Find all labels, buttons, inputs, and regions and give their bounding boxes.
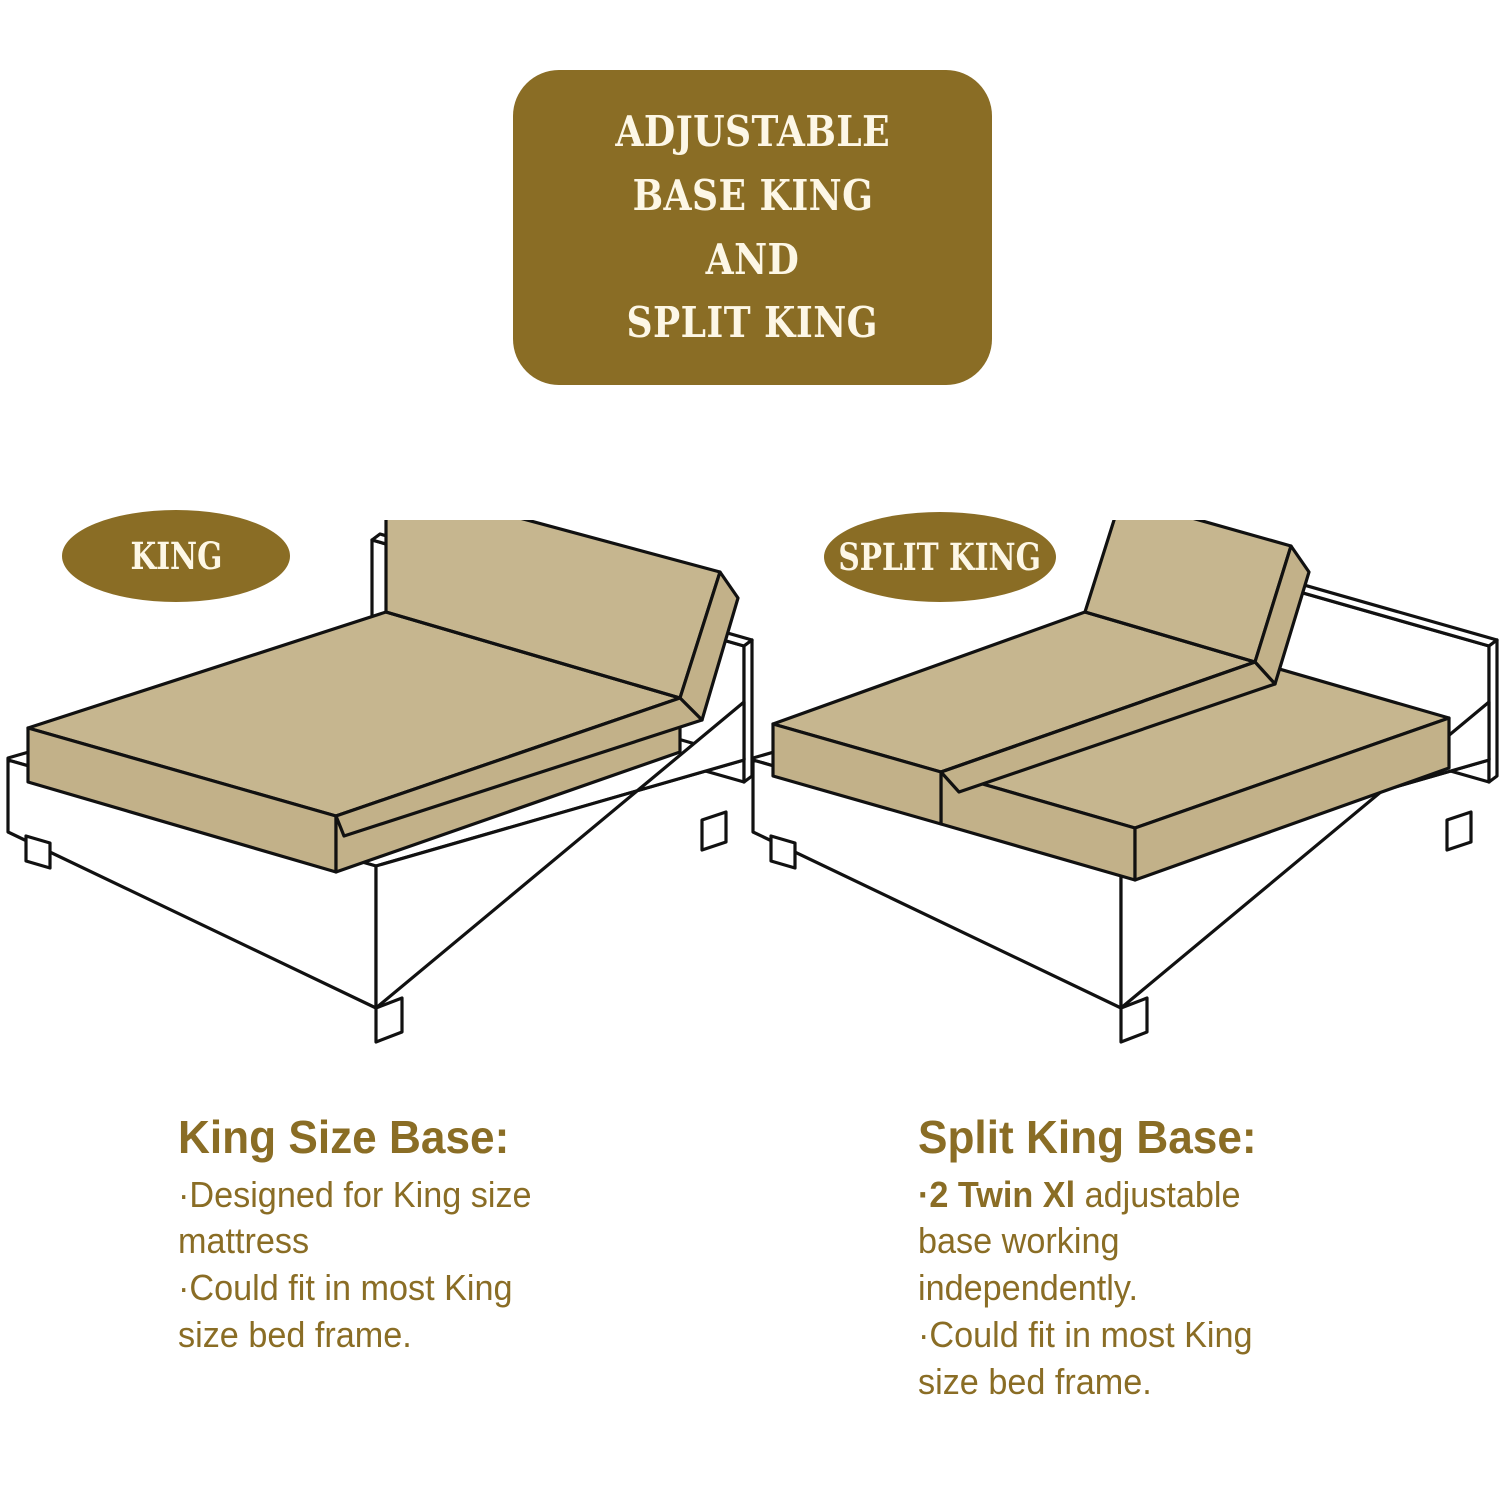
caption-split-king-bullet-1: ·2 Twin Xl adjustable base working indep… [918,1172,1298,1312]
king-leg-left [26,836,50,868]
header-banner: ADJUSTABLE BASE KING AND SPLIT KING [513,70,992,385]
header-line-3: AND [706,228,800,292]
header-line-4: SPLIT KING [627,291,878,355]
caption-block-split-king: Split King Base: ·2 Twin Xl adjustable b… [918,1112,1318,1406]
infographic-page: ADJUSTABLE BASE KING AND SPLIT KING KING… [0,0,1500,1500]
caption-king-bullet-2: ·Could fit in most King size bed frame. [178,1265,558,1359]
header-line-2: BASE KING [632,164,873,228]
caption-split-king-heading: Split King Base: [918,1112,1302,1164]
header-line-1: ADJUSTABLE [615,100,890,164]
splitking-leg-right [1447,812,1471,850]
king-leg-right [702,812,726,850]
caption-king-heading: King Size Base: [178,1112,562,1164]
caption-split-king-bullet-2: ·Could fit in most King size bed frame. [918,1312,1298,1406]
split-king-bed-illustration [745,520,1500,1065]
caption-king-bullet-1: ·Designed for King size mattress [178,1172,558,1266]
caption-split-king-bullet-1-bold: ·2 Twin Xl [918,1174,1075,1215]
splitking-leg-left [771,836,795,868]
caption-block-king: King Size Base: ·Designed for King size … [178,1112,578,1359]
king-bed-illustration [0,520,760,1065]
